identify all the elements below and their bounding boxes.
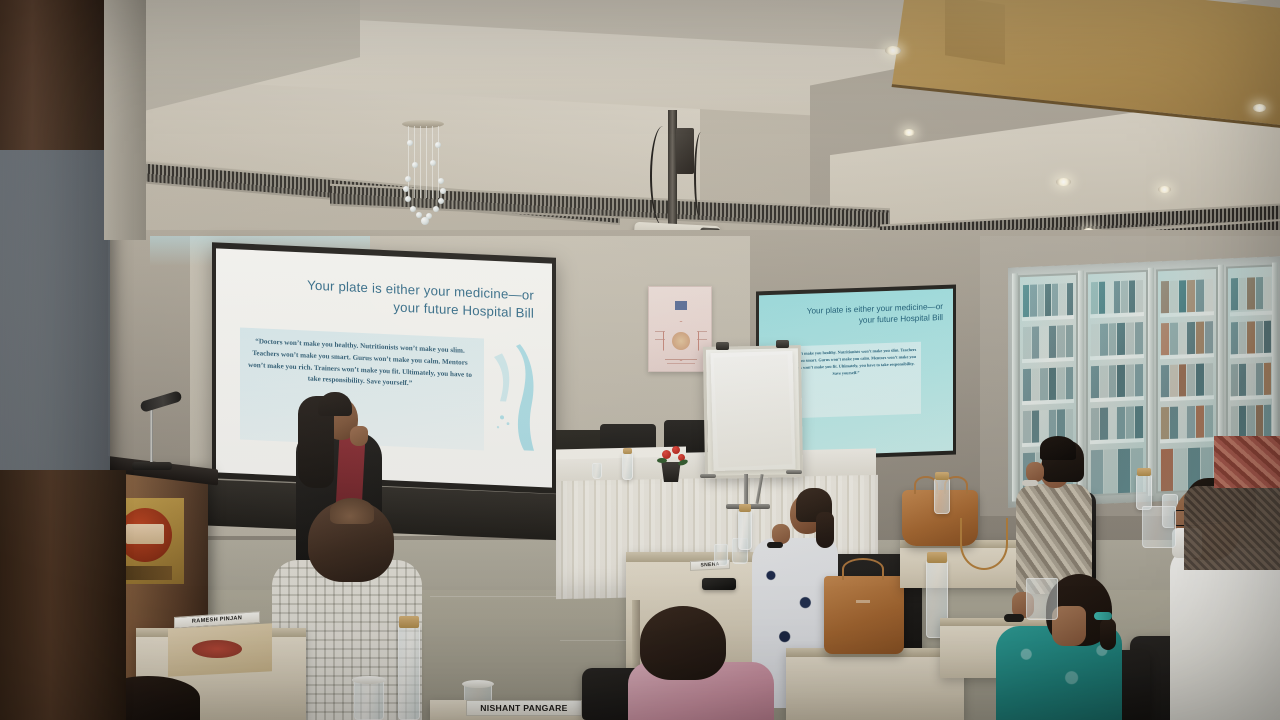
microphone-base [132, 462, 172, 470]
column-base [0, 470, 126, 720]
handbag-strap [960, 518, 1008, 570]
bookshelf-bay [1086, 270, 1148, 497]
books-icon [1161, 279, 1213, 313]
handbag-label [856, 600, 870, 603]
glass-lid [462, 680, 494, 688]
books-icon [1161, 321, 1213, 355]
attendee-shirt [1170, 548, 1280, 720]
bottle-cork [623, 448, 632, 454]
bookshelf-bay [1156, 267, 1218, 494]
books-icon [1231, 277, 1271, 311]
bottle-cork [739, 504, 751, 512]
books-icon [1023, 367, 1073, 401]
water-bottle-icon[interactable] [1136, 474, 1152, 510]
water-bottle-icon[interactable] [622, 452, 633, 480]
nameplate: NISHANT PANGARE [466, 700, 582, 716]
attendee-ponytail [1100, 618, 1116, 650]
poster-center-emblem [672, 332, 690, 350]
attendee-top [1184, 486, 1280, 570]
wristwatch [767, 542, 783, 548]
books-icon [1091, 280, 1143, 314]
drinking-glass-icon[interactable] [1026, 578, 1058, 620]
hair-tie [1094, 612, 1112, 620]
water-bottle-icon[interactable] [738, 510, 752, 550]
drinking-glass-icon[interactable] [592, 463, 602, 479]
drinking-glass-icon[interactable] [354, 680, 384, 720]
podium-logo-text [126, 524, 164, 544]
wooden-ceiling-panel-seam [945, 0, 1005, 65]
slide-decorative-graphic [486, 343, 538, 453]
books-icon [1231, 321, 1271, 355]
presenter-hand [350, 426, 368, 446]
handbag-handle [842, 558, 884, 580]
bottle-cork [1137, 468, 1151, 476]
bottle-cork [399, 616, 419, 628]
books-icon [1231, 405, 1271, 439]
wristwatch [1022, 480, 1038, 486]
column-secondary [104, 0, 146, 240]
flipchart-clip[interactable] [776, 340, 789, 348]
stand-emblem [192, 640, 242, 658]
attendee-hand [1026, 462, 1044, 482]
easel-bracket [700, 474, 716, 478]
rose-icon [672, 446, 680, 454]
desk [786, 648, 964, 720]
handbag-icon[interactable] [824, 576, 904, 654]
poster-header-block [675, 301, 687, 310]
projector-cable [694, 132, 708, 220]
chair-patterned-fabric [1214, 436, 1280, 488]
chandelier-icon [390, 120, 456, 230]
ceiling-downlight [1253, 104, 1266, 112]
bottle-cork [927, 552, 947, 563]
slide-title: Your plate is either your medicine—or yo… [238, 273, 534, 322]
drinking-glass-icon[interactable] [714, 544, 728, 566]
leaf [657, 458, 667, 463]
easel-bracket [786, 470, 802, 474]
books-icon [1231, 363, 1271, 397]
books-icon [1091, 364, 1143, 398]
presenter-hair-top [318, 392, 352, 416]
projector-junction-box [676, 128, 694, 174]
attendee-bald-crown [330, 498, 374, 524]
easel-leg [744, 474, 748, 508]
flipchart-paper-top [714, 354, 793, 467]
attendee-ponytail [816, 512, 834, 548]
ceiling-downlight [903, 129, 915, 136]
attendee-hand [772, 524, 790, 544]
drinking-glass-icon[interactable] [1142, 506, 1176, 548]
water-bottle-icon[interactable] [934, 478, 950, 514]
books-icon [1091, 322, 1143, 356]
books-icon [1023, 283, 1073, 317]
smartphone-icon[interactable] [702, 578, 736, 590]
wristwatch [1004, 614, 1024, 622]
attendee-head [640, 606, 726, 680]
microphone-stem [150, 408, 153, 466]
ceiling-downlight [885, 46, 901, 55]
slide-title-secondary: Your plate is either your medicine—or yo… [771, 301, 943, 330]
books-icon [1091, 406, 1143, 440]
attendee-head-behind [1040, 436, 1076, 460]
water-bottle-icon[interactable] [398, 624, 420, 720]
bottle-cork [935, 472, 949, 480]
ceiling-downlight [1158, 186, 1171, 193]
ceiling-downlight [1056, 178, 1071, 186]
flipchart-clip[interactable] [716, 342, 729, 350]
books-icon [1161, 363, 1213, 397]
glass-lid [352, 676, 386, 684]
books-icon [1161, 405, 1213, 439]
books-icon [1023, 325, 1073, 359]
projection-screen-main: Your plate is either your medicine—or yo… [216, 248, 552, 487]
projector-cable [650, 126, 676, 226]
conference-room-photo: Your plate is either your medicine—or yo… [0, 0, 1280, 720]
